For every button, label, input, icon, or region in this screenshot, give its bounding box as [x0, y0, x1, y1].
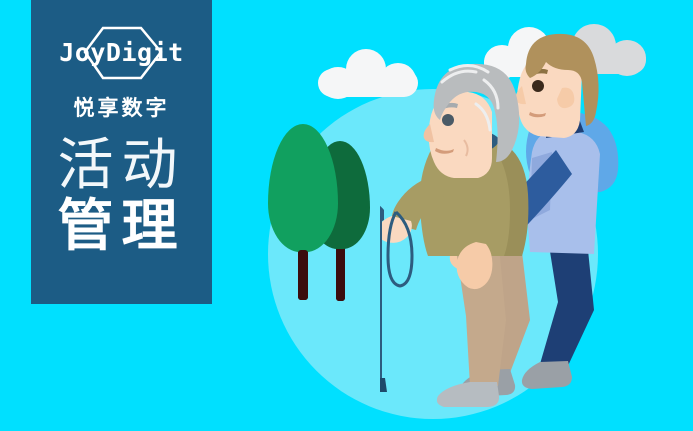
page-title-line2: 管理: [31, 195, 212, 257]
woman-front-shoe: [437, 382, 499, 407]
cane-tip: [380, 378, 387, 392]
brand-logo: JoyDigit: [31, 24, 212, 86]
page-title: 活动 管理: [31, 135, 212, 257]
tree-front-trunk-lower: [298, 250, 308, 300]
page-title-line1: 活动: [31, 135, 212, 195]
elderly-care-illustration: [380, 20, 670, 410]
man-back-shoe: [522, 361, 572, 389]
tree-front-icon: [268, 124, 338, 300]
brand-chinese-name: 悦享数字: [31, 92, 212, 122]
poster-canvas: JoyDigit 悦享数字 活动 管理: [0, 0, 693, 431]
woman-eye: [442, 114, 454, 126]
brand-panel: JoyDigit 悦享数字 活动 管理: [31, 0, 212, 304]
tree-front-crown: [268, 124, 338, 252]
brand-wordmark: JoyDigit: [31, 38, 212, 67]
brand-block: JoyDigit 悦享数字: [31, 24, 212, 122]
cane-shaft: [380, 216, 382, 384]
man-eye: [532, 80, 544, 92]
